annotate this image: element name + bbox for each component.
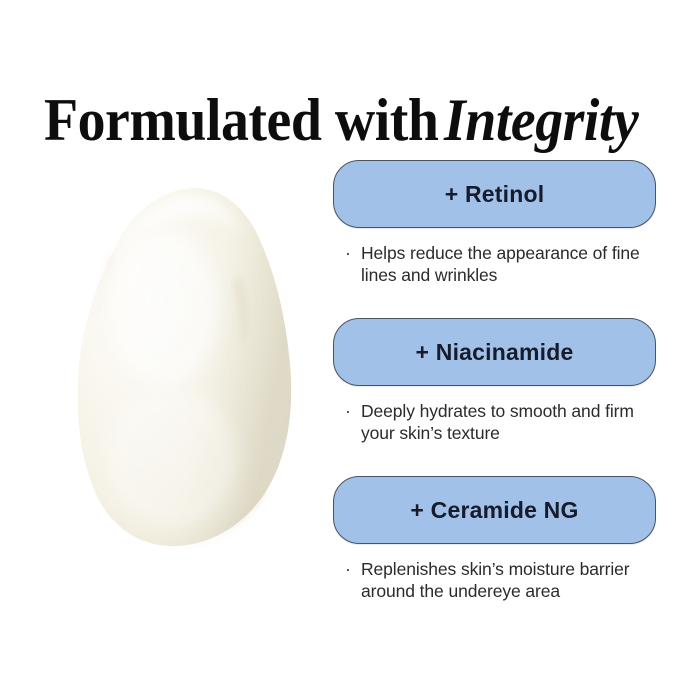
- benefit-text: Replenishes skin’s moisture barrier arou…: [361, 559, 630, 601]
- ingredient-item-retinol: + Retinol · Helps reduce the appearance …: [333, 160, 656, 286]
- bullet-icon: ·: [345, 400, 351, 422]
- ingredient-pill-ceramide-ng[interactable]: + Ceramide NG: [333, 476, 656, 544]
- ingredient-item-ceramide-ng: + Ceramide NG · Replenishes skin’s moist…: [333, 476, 656, 602]
- ingredient-label: + Niacinamide: [416, 341, 574, 364]
- ingredient-pill-niacinamide[interactable]: + Niacinamide: [333, 318, 656, 386]
- benefit-text: Helps reduce the appearance of fine line…: [361, 243, 640, 285]
- ingredient-label: + Ceramide NG: [410, 499, 578, 522]
- bullet-icon: ·: [345, 242, 351, 264]
- ingredient-benefit-niacinamide: · Deeply hydrates to smooth and firm you…: [333, 400, 656, 444]
- ingredient-list: + Retinol · Helps reduce the appearance …: [333, 160, 656, 602]
- ingredient-pill-retinol[interactable]: + Retinol: [333, 160, 656, 228]
- page-title-regular: Formulated with: [44, 87, 438, 153]
- ingredient-benefit-ceramide-ng: · Replenishes skin’s moisture barrier ar…: [333, 558, 656, 602]
- swatch-inner-sheen: [110, 230, 218, 386]
- benefit-text: Deeply hydrates to smooth and firm your …: [361, 401, 634, 443]
- ingredient-item-niacinamide: + Niacinamide · Deeply hydrates to smoot…: [333, 318, 656, 444]
- ingredient-benefit-retinol: · Helps reduce the appearance of fine li…: [333, 242, 656, 286]
- page-title-italic: Integrity: [438, 87, 638, 153]
- cream-swatch-image: [52, 158, 324, 564]
- ingredient-label: + Retinol: [445, 183, 545, 206]
- page-title: Formulated withIntegrity: [44, 88, 602, 152]
- product-ingredient-infographic: Formulated withIntegrity: [0, 0, 679, 679]
- bullet-icon: ·: [345, 558, 351, 580]
- cream-swatch-graphic: [52, 158, 324, 564]
- swatch-lower-sheen: [106, 388, 238, 528]
